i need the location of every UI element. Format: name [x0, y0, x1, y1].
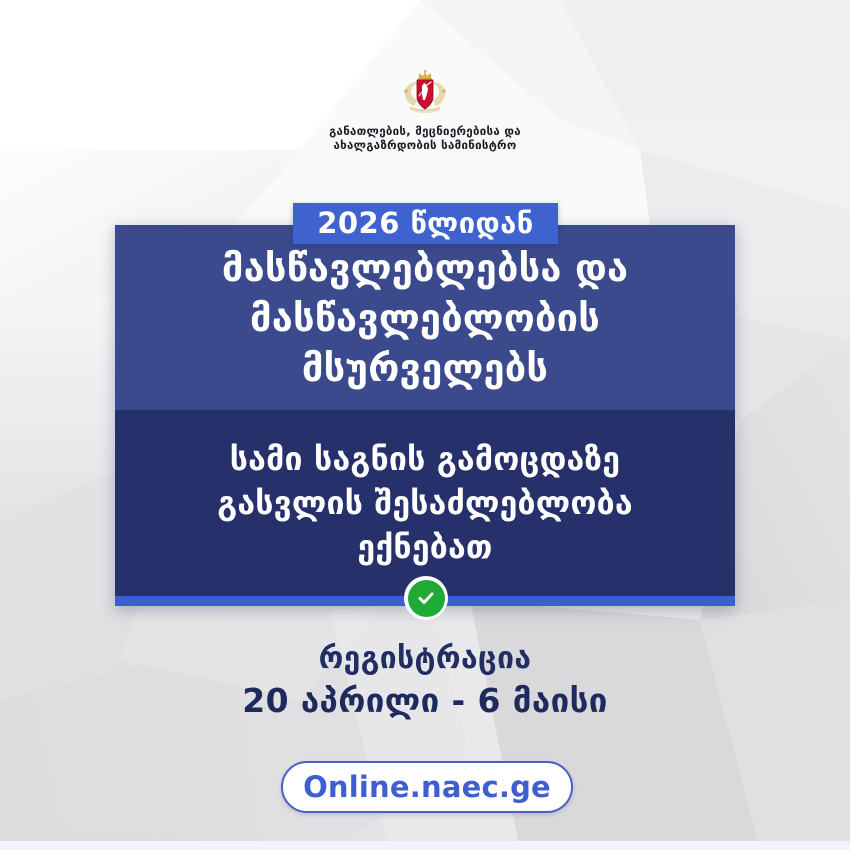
- subheadline-line-1: სამი საგნის გამოცდაზე: [230, 437, 620, 481]
- website-url-button[interactable]: Online.naec.ge: [281, 761, 573, 813]
- registration-label: რეგისტრაცია: [0, 640, 850, 678]
- check-badge: [404, 576, 448, 620]
- subheadline-line-2: გასვლის შესაძლებლობა: [217, 481, 632, 525]
- subheadline-line-3: ექნებათ: [357, 525, 492, 569]
- year-badge-label: 2026 წლიდან: [317, 209, 534, 238]
- poster-canvas: განათლების, მეცნიერებისა და ახალგაზრდობი…: [0, 0, 850, 850]
- year-badge: 2026 წლიდან: [293, 203, 558, 244]
- check-mark-icon: [408, 580, 445, 617]
- headline-line-3: მსურველებს: [302, 343, 548, 393]
- website-url-label: Online.naec.ge: [303, 773, 551, 802]
- ministry-header: განათლების, მეცნიერებისა და ახალგაზრდობი…: [0, 70, 850, 152]
- headline-line-1: მასწავლებლებსა და: [222, 243, 628, 293]
- panel-subheadline-section: სამი საგნის გამოცდაზე გასვლის შესაძლებლო…: [115, 410, 735, 596]
- ministry-name-line-2: ახალგაზრდობის სამინისტრო: [0, 138, 850, 152]
- registration-block: რეგისტრაცია 20 აპრილი - 6 მაისი: [0, 640, 850, 722]
- background-bottom-strip: [0, 841, 850, 850]
- georgia-coat-of-arms-icon: [400, 70, 450, 116]
- ministry-name-line-1: განათლების, მეცნიერებისა და: [0, 124, 850, 138]
- panel-headline-section: მასწავლებლებსა და მასწავლებლობის მსურველ…: [115, 225, 735, 410]
- headline-line-2: მასწავლებლობის: [250, 293, 600, 343]
- announcement-panel: მასწავლებლებსა და მასწავლებლობის მსურველ…: [115, 225, 735, 606]
- registration-dates: 20 აპრილი - 6 მაისი: [0, 680, 850, 722]
